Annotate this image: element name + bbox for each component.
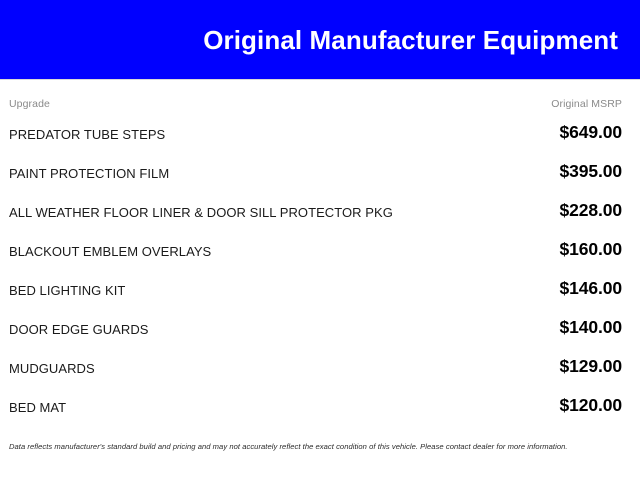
upgrade-name: BED MAT	[9, 396, 66, 415]
table-header-row: Upgrade Original MSRP	[9, 80, 622, 114]
upgrade-name: BLACKOUT EMBLEM OVERLAYS	[9, 240, 211, 259]
table-row: BED MAT $120.00	[9, 387, 622, 426]
upgrade-price: $228.00	[559, 201, 622, 220]
upgrade-price: $395.00	[559, 162, 622, 181]
upgrade-price: $120.00	[559, 396, 622, 415]
table-row: ALL WEATHER FLOOR LINER & DOOR SILL PROT…	[9, 192, 622, 231]
upgrade-price: $649.00	[559, 123, 622, 142]
upgrade-name: BED LIGHTING KIT	[9, 279, 125, 298]
upgrade-price: $140.00	[559, 318, 622, 337]
upgrade-name: PAINT PROTECTION FILM	[9, 162, 169, 181]
upgrade-price: $129.00	[559, 357, 622, 376]
column-header-upgrade: Upgrade	[9, 98, 50, 110]
disclaimer-text: Data reflects manufacturer's standard bu…	[9, 442, 631, 452]
page-header: Original Manufacturer Equipment	[0, 0, 640, 79]
table-row: MUDGUARDS $129.00	[9, 348, 622, 387]
upgrade-name: MUDGUARDS	[9, 357, 95, 376]
table-row: BED LIGHTING KIT $146.00	[9, 270, 622, 309]
page-title: Original Manufacturer Equipment	[203, 27, 618, 53]
upgrade-name: DOOR EDGE GUARDS	[9, 318, 148, 337]
upgrade-name: ALL WEATHER FLOOR LINER & DOOR SILL PROT…	[9, 201, 393, 220]
equipment-table: Upgrade Original MSRP PREDATOR TUBE STEP…	[0, 80, 640, 426]
table-row: PAINT PROTECTION FILM $395.00	[9, 153, 622, 192]
upgrade-price: $146.00	[559, 279, 622, 298]
column-header-msrp: Original MSRP	[551, 98, 622, 110]
upgrade-name: PREDATOR TUBE STEPS	[9, 123, 165, 142]
equipment-sheet: Original Manufacturer Equipment Upgrade …	[0, 0, 640, 480]
table-row: BLACKOUT EMBLEM OVERLAYS $160.00	[9, 231, 622, 270]
upgrade-price: $160.00	[559, 240, 622, 259]
table-row: PREDATOR TUBE STEPS $649.00	[9, 114, 622, 153]
table-row: DOOR EDGE GUARDS $140.00	[9, 309, 622, 348]
